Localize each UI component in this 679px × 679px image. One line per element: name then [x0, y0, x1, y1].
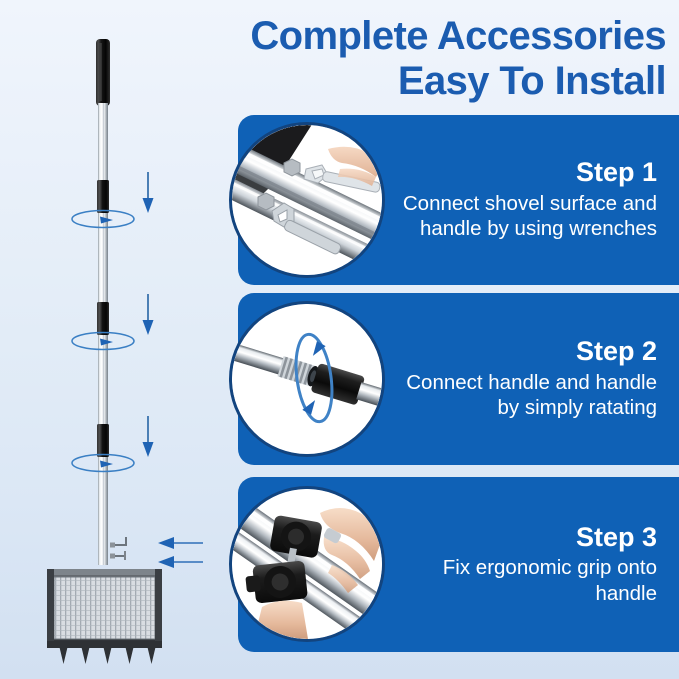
insert-arrow-1	[143, 172, 154, 213]
step-3-title: Step 3	[389, 523, 657, 553]
step-panel-1[interactable]: Step 1 Connect shovel surface and handle…	[238, 115, 679, 285]
serrated-edge	[47, 641, 162, 664]
infographic-root: Complete Accessories Easy To Install	[0, 0, 679, 679]
mounting-bolt-lower	[110, 551, 126, 560]
shovel-diagram-svg	[0, 0, 238, 679]
step-2-text: Step 2 Connect handle and handle by simp…	[389, 293, 657, 465]
step-2-description: Connect handle and handle by simply rata…	[389, 370, 657, 421]
handle-rotating-joint-photo	[232, 304, 382, 454]
step-1-title: Step 1	[389, 158, 657, 188]
step-3-description: Fix ergonomic grip onto handle	[389, 555, 657, 606]
top-hand-grip	[96, 39, 110, 106]
step-1-text: Step 1 Connect shovel surface and handle…	[389, 115, 657, 285]
page-title: Complete Accessories Easy To Install	[186, 16, 666, 102]
insert-arrow-2	[143, 294, 154, 335]
mesh-shovel-head	[47, 569, 162, 648]
joint-collar-2	[97, 302, 109, 335]
step-1-photo	[229, 122, 385, 278]
ergonomic-grip-clamp-photo	[232, 489, 382, 639]
title-line-1: Complete Accessories	[186, 16, 666, 57]
insert-arrow-3	[143, 416, 154, 457]
step-2-photo	[229, 301, 385, 457]
step-3-photo	[229, 486, 385, 642]
mounting-bolt-upper	[110, 537, 126, 548]
step-1-description: Connect shovel surface and handle by usi…	[389, 191, 657, 242]
step-panel-2[interactable]: Step 2 Connect handle and handle by simp…	[238, 293, 679, 465]
title-line-2: Easy To Install	[186, 61, 666, 102]
step-2-title: Step 2	[389, 337, 657, 367]
bolt-callout-arrow-lower	[158, 556, 203, 568]
joint-collar-3	[97, 424, 109, 457]
wrench-tightening-shovel-bolt-photo	[232, 125, 382, 275]
step-panel-3[interactable]: Step 3 Fix ergonomic grip onto handle	[238, 477, 679, 652]
bolt-callout-arrow-upper	[158, 537, 203, 549]
joint-collar-1	[97, 180, 109, 213]
step-3-text: Step 3 Fix ergonomic grip onto handle	[389, 477, 657, 652]
product-diagram	[0, 0, 238, 679]
